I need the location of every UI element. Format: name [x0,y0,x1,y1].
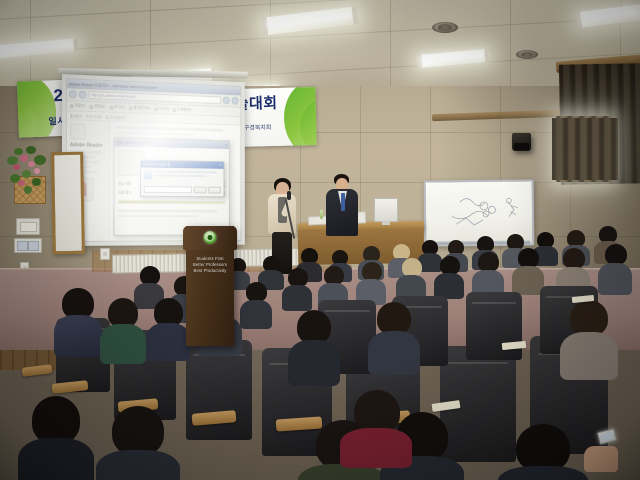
browser-window: Adobe Reader 다운로드 - Windows Internet Exp… [66,78,241,242]
audience-member [356,262,386,302]
menu-item-view[interactable]: 보기(V) [109,105,125,110]
web-page-content: Adobe Reader [67,120,240,242]
menu-label-favorites: 즐겨찾기(A) [134,106,151,111]
audience-member-front [54,288,102,354]
audience-member-front [146,298,190,356]
adobe-logo-icon [70,123,86,139]
menu-label-tools: 도구(T) [159,107,169,112]
ceiling-speaker-2 [516,50,538,59]
wall-control-panel[interactable] [16,218,40,235]
menu-item-help[interactable]: 도움말(H) [173,107,191,112]
menu-label-help: 도움말(H) [178,107,192,112]
audience-member [472,252,504,294]
forward-icon[interactable] [79,91,87,99]
back-icon[interactable] [69,90,77,98]
audience-member [598,244,632,292]
menu-label-edit: 편집(E) [94,104,105,109]
progress-bar [144,186,192,193]
stop-icon[interactable] [232,97,239,105]
menu-item-file[interactable]: 파일(F) [70,103,86,109]
audience-member-front [100,298,146,360]
university-logo-icon [204,231,217,244]
menu-label-file: 파일(F) [75,103,86,108]
close-icon[interactable]: × [220,163,222,167]
menu-item-favorites[interactable]: 즐겨찾기(A) [129,105,151,111]
presenter-male [322,174,364,236]
presenter-male-tie [341,193,345,211]
download-progress-body [141,167,223,183]
info-icon [144,170,152,179]
audience-hand-with-phone [584,440,618,470]
close-icon[interactable]: × [225,143,227,147]
page-heading: Adobe Reader [70,142,106,149]
lecture-hall-photo: 2 일시 술대회 대구경북지회 Adobe Reader 다운로드 - Wind… [0,0,640,480]
notice-board [51,152,85,255]
menu-label-view: 보기(V) [114,105,125,110]
podium: Students First Better Professors Best Pr… [186,226,234,346]
audience-member [282,268,312,308]
auditorium-seat [466,292,522,360]
bookmark-favorites[interactable]: 즐겨찾기 [70,113,82,118]
whiteboard-sketch-icon [452,198,518,225]
podium-slogan: Students First Better Professors Best Pr… [186,256,234,274]
projection-screen: Adobe Reader 다운로드 - Windows Internet Exp… [62,74,245,246]
cancel-button[interactable] [194,187,207,194]
audience-member-front [288,310,340,382]
download-progress-title: Adobe DLM 설치 중 [143,161,170,166]
podium-slogan-line-3: Best Productivity [186,268,234,274]
wall-speaker-icon [512,133,531,151]
download-progress-footer [144,186,221,194]
audience-member-foreground [340,390,412,460]
flower-arrangement [4,146,52,202]
bookmark-suggested-sites[interactable]: 추천 사이트 [86,113,102,118]
table-monitor [374,198,398,222]
ok-button[interactable] [208,187,221,194]
podium-top [183,226,237,250]
audience-member-front [560,300,618,376]
audience-member [434,256,464,296]
audience-member-front [368,302,420,372]
wall-outlet-stage [100,248,110,260]
download-progress-dialog[interactable]: Adobe DLM 설치 중 × [140,160,224,198]
audience-member [240,282,272,326]
ceiling-speaker-1 [432,22,458,33]
wall-switch-panel[interactable] [14,238,42,253]
refresh-icon[interactable] [223,97,230,105]
audience-member-foreground [18,396,94,480]
audience-member-foreground [498,424,588,480]
curtain-behind-whiteboard [552,118,618,180]
dialog-divider [118,200,225,204]
audience-member [396,258,426,298]
file-download-dialog-title: 파일 다운로드 - 보안 경고 [116,140,152,146]
microphone-icon [287,191,291,200]
audience-member-foreground [96,406,180,480]
menu-item-tools[interactable]: 도구(T) [154,106,169,111]
menu-item-edit[interactable]: 편집(E) [90,104,106,110]
bookmark-web-slice-gallery[interactable]: 웹 조각 갤러리 [106,114,126,120]
